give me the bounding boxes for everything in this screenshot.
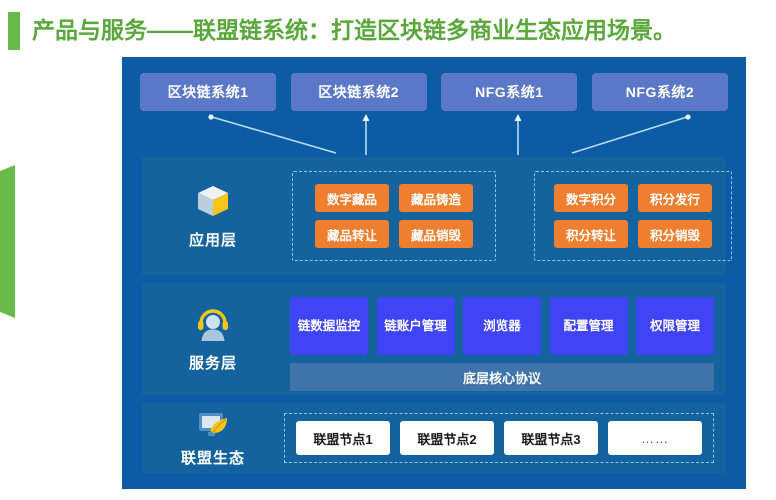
service-module-chain-account-mgmt[interactable]: 链账户管理 xyxy=(377,297,455,355)
ecosystem-node-2[interactable]: 联盟节点2 xyxy=(400,421,494,455)
ecosystem-node-3[interactable]: 联盟节点3 xyxy=(504,421,598,455)
page-title: 产品与服务——联盟链系统：打造区块链多商业生态应用场景。 xyxy=(32,11,676,45)
top-systems-row: 区块链系统1 区块链系统2 NFG系统1 NFG系统2 xyxy=(140,73,728,111)
service-module-permission-mgmt[interactable]: 权限管理 xyxy=(636,297,714,355)
arrowhead-blockchain-2 xyxy=(363,114,370,121)
arrowhead-nfg-1 xyxy=(515,114,522,121)
connector-arrows xyxy=(122,111,746,157)
layer-service-label: 服务层 xyxy=(189,352,237,373)
chip-points-transfer[interactable]: 积分转让 xyxy=(554,220,628,248)
chip-digital-collection[interactable]: 数字藏品 xyxy=(315,184,389,212)
monitor-leaf-icon xyxy=(196,409,230,443)
layer-application-label-group: 应用层 xyxy=(166,157,260,275)
chip-collection-mint[interactable]: 藏品铸造 xyxy=(399,184,473,212)
arrow-to-nfg-2 xyxy=(572,117,687,153)
system-box-nfg-1[interactable]: NFG系统1 xyxy=(441,73,577,111)
layer-application-label: 应用层 xyxy=(189,229,237,250)
layer-ecosystem: 联盟生态 联盟节点1 联盟节点2 联盟节点3 …… xyxy=(142,403,726,473)
chip-digital-points[interactable]: 数字积分 xyxy=(554,184,628,212)
service-module-chain-data-monitor[interactable]: 链数据监控 xyxy=(290,297,368,355)
side-accent-bar xyxy=(0,165,15,318)
ecosystem-nodes-group: 联盟节点1 联盟节点2 联盟节点3 …… xyxy=(284,413,714,463)
points-chip-grid: 数字积分 积分发行 积分转让 积分销毁 xyxy=(554,184,712,248)
layer-ecosystem-label-group: 联盟生态 xyxy=(166,403,260,473)
collection-chip-grid: 数字藏品 藏品铸造 藏品转让 藏品销毁 xyxy=(315,184,473,248)
chip-points-burn[interactable]: 积分销毁 xyxy=(638,220,712,248)
chip-collection-transfer[interactable]: 藏品转让 xyxy=(315,220,389,248)
ecosystem-nodes-row: 联盟节点1 联盟节点2 联盟节点3 …… xyxy=(285,414,713,462)
ecosystem-node-more[interactable]: …… xyxy=(608,421,702,455)
chip-collection-burn[interactable]: 藏品销毁 xyxy=(399,220,473,248)
slide-canvas: 产品与服务——联盟链系统：打造区块链多商业生态应用场景。 区块链系统1 区块链系… xyxy=(0,0,776,500)
headset-support-icon xyxy=(193,305,233,345)
ecosystem-node-1[interactable]: 联盟节点1 xyxy=(296,421,390,455)
arrowhead-nfg-2 xyxy=(685,114,690,119)
chip-points-issue[interactable]: 积分发行 xyxy=(638,184,712,212)
layer-ecosystem-label: 联盟生态 xyxy=(181,447,245,468)
layer-application: 应用层 数字藏品 藏品铸造 藏品转让 藏品销毁 数字积分 积分发行 积分转让 积… xyxy=(142,157,726,275)
service-modules-row: 链数据监控 链账户管理 浏览器 配置管理 权限管理 xyxy=(290,297,714,355)
layer-service: 服务层 链数据监控 链账户管理 浏览器 配置管理 权限管理 底层核心协议 xyxy=(142,283,726,395)
system-box-blockchain-1[interactable]: 区块链系统1 xyxy=(140,73,276,111)
arrowhead-blockchain-1 xyxy=(208,114,213,119)
service-module-config-mgmt[interactable]: 配置管理 xyxy=(550,297,628,355)
system-box-nfg-2[interactable]: NFG系统2 xyxy=(592,73,728,111)
architecture-diagram: 区块链系统1 区块链系统2 NFG系统1 NFG系统2 xyxy=(122,57,746,489)
arrow-to-blockchain-1 xyxy=(212,117,336,153)
cube-icon xyxy=(193,182,233,222)
application-group-collection: 数字藏品 藏品铸造 藏品转让 藏品销毁 xyxy=(292,171,496,261)
service-module-explorer[interactable]: 浏览器 xyxy=(463,297,541,355)
core-protocol-bar[interactable]: 底层核心协议 xyxy=(290,363,714,391)
layer-service-label-group: 服务层 xyxy=(166,283,260,395)
title-accent-bar xyxy=(8,12,20,50)
system-box-blockchain-2[interactable]: 区块链系统2 xyxy=(291,73,427,111)
application-group-points: 数字积分 积分发行 积分转让 积分销毁 xyxy=(534,171,732,261)
